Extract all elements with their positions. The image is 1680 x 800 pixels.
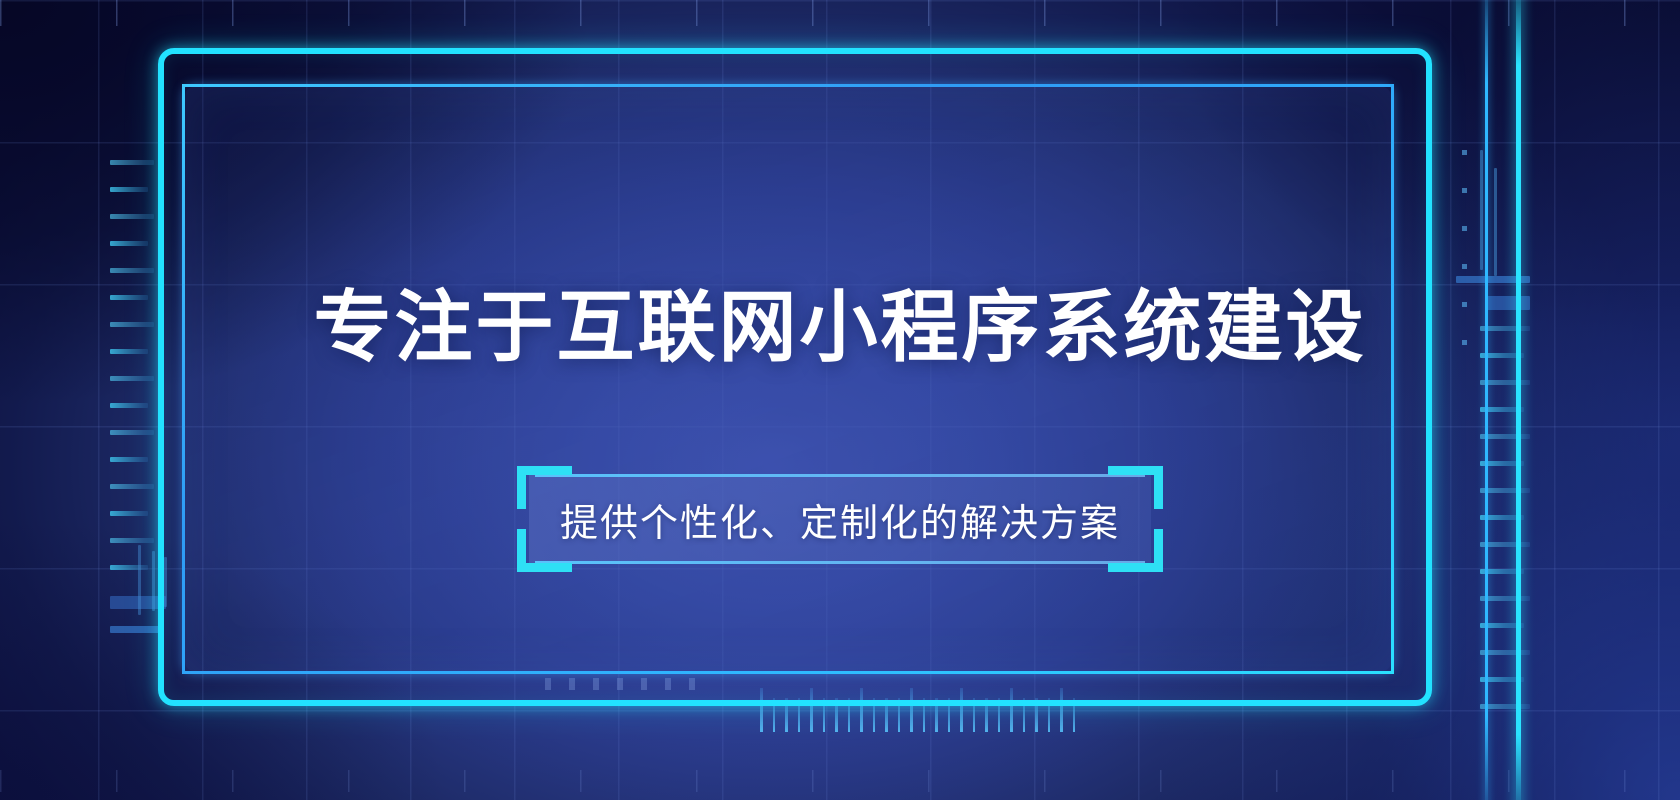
deco-bar: [110, 403, 148, 408]
tick-ruler-bottom: [0, 770, 1680, 792]
inner-frame: [182, 84, 1394, 674]
deco-bar-wide: [110, 626, 162, 633]
deco-bar: [110, 187, 148, 192]
deco-bar: [110, 376, 154, 381]
deco-bar: [110, 457, 148, 462]
deco-dot: [1462, 188, 1467, 193]
tick-ruler-top: [0, 0, 1680, 26]
deco-vertical-line: [1494, 168, 1497, 276]
deco-bar: [110, 241, 148, 246]
subtitle-panel: 提供个性化、定制化的解决方案: [517, 466, 1163, 572]
right-separator-line-2: [1516, 0, 1521, 800]
right-vertical-lines: [1470, 150, 1520, 300]
deco-bar: [110, 430, 154, 435]
deco-vertical-line: [152, 551, 155, 611]
deco-vertical-line: [138, 545, 141, 615]
deco-bar: [110, 538, 154, 543]
deco-bar: [110, 511, 148, 516]
deco-bar: [110, 214, 154, 219]
banner-canvas: 专注于互联网小程序系统建设 提供个性化、定制化的解决方案: [0, 0, 1680, 800]
right-separator-line-1: [1485, 0, 1488, 800]
deco-dot: [1462, 264, 1467, 269]
page-title: 专注于互联网小程序系统建设: [0, 288, 1680, 366]
page-subtitle: 提供个性化、定制化的解决方案: [517, 466, 1163, 572]
deco-bar: [110, 484, 154, 489]
deco-dot: [1462, 226, 1467, 231]
deco-bar: [110, 268, 154, 273]
deco-bar: [110, 160, 154, 165]
deco-dot: [1462, 150, 1467, 155]
deco-vertical-line: [1480, 150, 1483, 270]
